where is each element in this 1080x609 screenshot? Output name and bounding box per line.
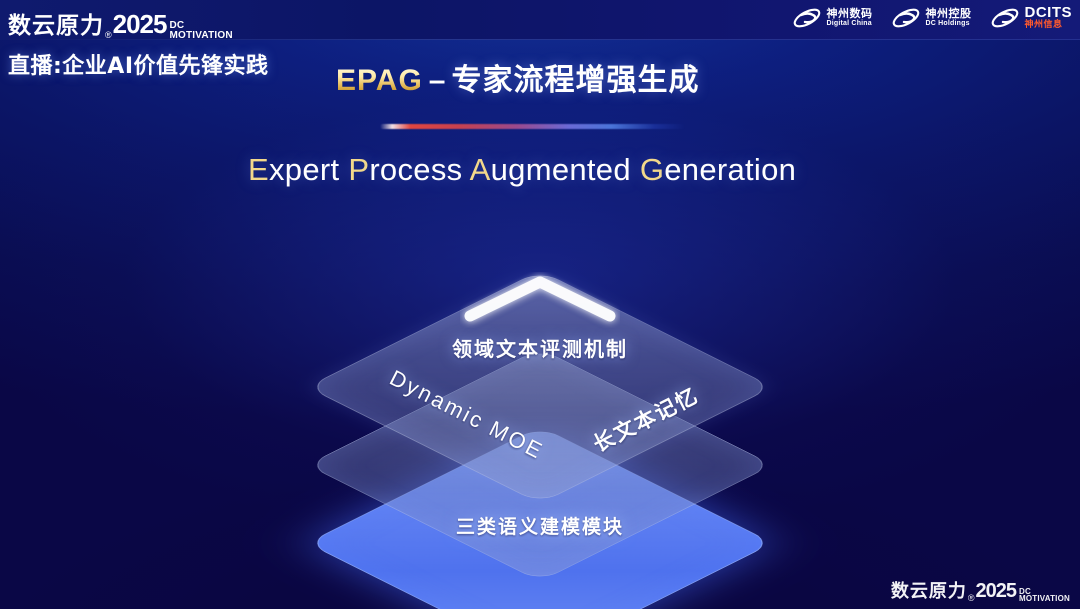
partner-name-cn: 神州控股	[926, 8, 972, 20]
subtitle-capital: A	[470, 152, 491, 187]
layer-plate-middle	[375, 300, 705, 609]
chevron-up-icon	[460, 272, 620, 328]
subtitle-word: Process	[348, 152, 462, 187]
brand-name-cn: 数云原力	[8, 6, 104, 40]
subtitle-rest: rocess	[369, 152, 462, 187]
brand-registered-mark: ®	[105, 30, 112, 40]
subtitle-rest: eneration	[664, 152, 796, 187]
swirl-galaxy-icon	[990, 6, 1020, 30]
partner-logo-text: 神州控股 DC Holdings	[926, 8, 972, 27]
partner-name-en: DC Holdings	[926, 20, 972, 27]
page-title: EPAG–专家流程增强生成	[336, 55, 699, 99]
partner-logo-text: 神州数码 Digital China	[827, 8, 873, 27]
layer-label-dynamic-moe: Dynamic MOE	[385, 365, 548, 465]
brand-dc-motivation: DC MOTIVATION	[1019, 588, 1070, 603]
brand-year: 2025	[113, 9, 167, 40]
brand-logo-datacloud: 数云原力 ® 2025 DC MOTIVATION	[8, 6, 233, 40]
title-acronym: EPAG	[336, 64, 423, 97]
subtitle-capital: G	[640, 152, 664, 187]
title-chinese: 专家流程增强生成	[451, 63, 699, 98]
partner-name-cn: DCITS	[1025, 5, 1073, 21]
subtitle-rest: ugmented	[491, 152, 631, 187]
title-divider	[380, 124, 685, 129]
subtitle-rest: xpert	[269, 152, 339, 187]
subtitle-capital: P	[348, 152, 369, 187]
partner-logo-row: 神州数码 Digital China 神州控股 DC Holdings DCIT…	[792, 5, 1073, 30]
brand-motivation-label: MOTIVATION	[169, 31, 232, 41]
partner-logo-digital-china: 神州数码 Digital China	[792, 6, 873, 30]
brand-watermark: 数云原力 ® 2025 DC MOTIVATION	[891, 577, 1070, 603]
subtitle-word: Augmented	[470, 152, 631, 187]
brand-dc-motivation: DC MOTIVATION	[169, 21, 232, 40]
partner-logo-text: DCITS 神州信息	[1025, 5, 1073, 30]
swirl-galaxy-icon	[891, 6, 921, 30]
partner-name-cn: 神州数码	[827, 8, 873, 20]
layer-plate-bottom	[375, 378, 705, 609]
layer-label-top: 领域文本评测机制	[452, 333, 628, 362]
layer-plate-middle-surface	[307, 348, 774, 581]
subtitle-capital: E	[248, 152, 269, 187]
layer-label-long-context: 长文本记忆	[587, 380, 703, 459]
partner-logo-dc-holdings: 神州控股 DC Holdings	[891, 6, 972, 30]
partner-name-en: 神州信息	[1025, 21, 1073, 30]
brand-year: 2025	[975, 580, 1016, 603]
title-dash: –	[429, 64, 446, 97]
brand-name-cn: 数云原力	[891, 577, 967, 603]
brand-motivation-label: MOTIVATION	[1019, 595, 1070, 603]
swirl-galaxy-icon	[792, 6, 822, 30]
brand-registered-mark: ®	[968, 593, 975, 603]
partner-logo-dcits: DCITS 神州信息	[990, 5, 1073, 30]
partner-name-en: Digital China	[827, 20, 873, 27]
layer-label-bottom: 三类语义建模模块	[456, 512, 624, 539]
subtitle-word: Generation	[640, 152, 796, 187]
subtitle-word: Expert	[248, 152, 339, 187]
layer-plate-bottom-surface	[307, 426, 774, 609]
subtitle-expanded-acronym: Expert Process Augmented Generation	[248, 152, 796, 188]
slide-canvas: 数云原力 ® 2025 DC MOTIVATION 直播:企业AI价值先锋实践 …	[0, 0, 1080, 609]
live-session-title: 直播:企业AI价值先锋实践	[8, 48, 269, 80]
